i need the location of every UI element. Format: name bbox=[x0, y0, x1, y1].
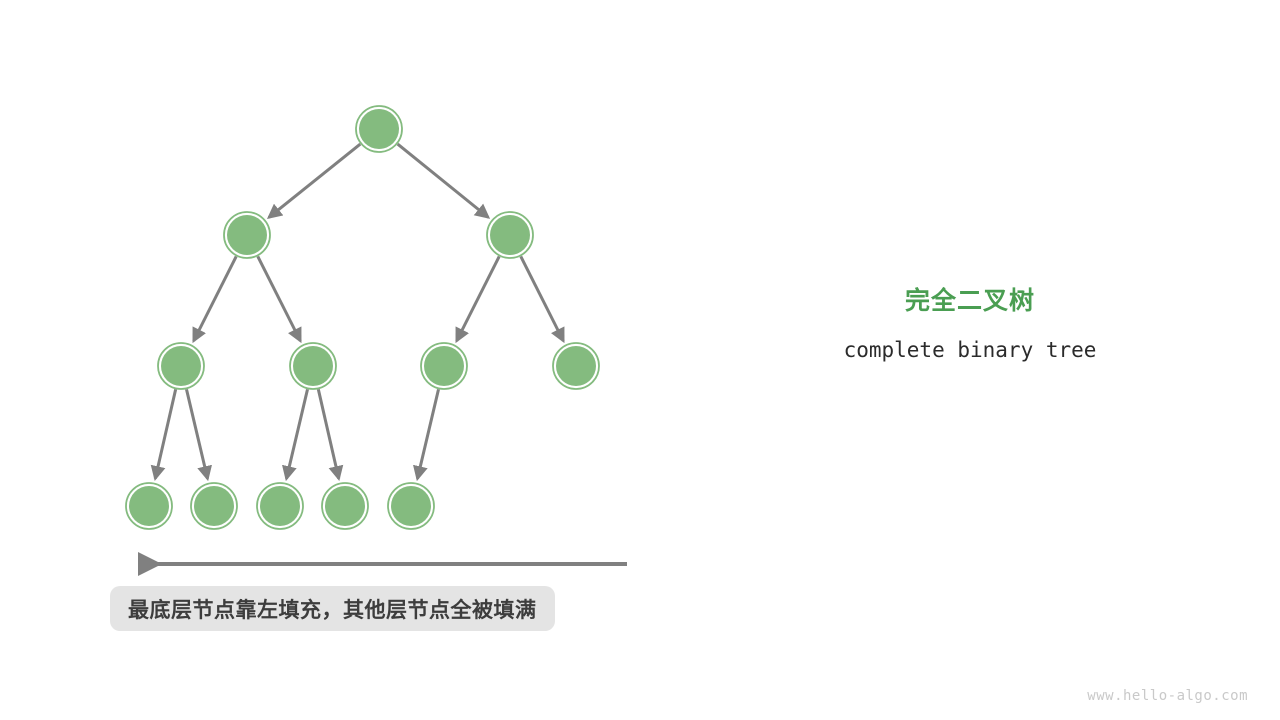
tree-node-disc bbox=[293, 346, 333, 386]
tree-node[interactable] bbox=[290, 343, 336, 389]
tree-edge bbox=[318, 389, 338, 478]
tree-node[interactable] bbox=[553, 343, 599, 389]
tree-edge bbox=[269, 144, 360, 217]
legend-subtitle: complete binary tree bbox=[760, 318, 1180, 362]
tree-node[interactable] bbox=[158, 343, 204, 389]
tree-edges bbox=[155, 144, 563, 479]
tree-edge bbox=[258, 256, 301, 341]
tree-node-disc bbox=[424, 346, 464, 386]
tree-node-disc bbox=[359, 109, 399, 149]
tree-node-disc bbox=[227, 215, 267, 255]
tree-edge bbox=[457, 256, 500, 341]
tree-edge bbox=[187, 389, 208, 478]
tree-node-disc bbox=[556, 346, 596, 386]
tree-node[interactable] bbox=[388, 483, 434, 529]
tree-node[interactable] bbox=[487, 212, 533, 258]
watermark: www.hello-algo.com bbox=[1087, 688, 1248, 704]
tree-node[interactable] bbox=[421, 343, 467, 389]
tree-node[interactable] bbox=[191, 483, 237, 529]
tree-node[interactable] bbox=[224, 212, 270, 258]
tree-node[interactable] bbox=[322, 483, 368, 529]
tree-node-disc bbox=[161, 346, 201, 386]
tree-edge bbox=[398, 144, 489, 217]
tree-edge bbox=[286, 389, 307, 478]
tree-edge bbox=[417, 389, 438, 478]
tree-node-disc bbox=[129, 486, 169, 526]
legend: 完全二叉树 complete binary tree bbox=[760, 285, 1180, 362]
tree-node-disc bbox=[490, 215, 530, 255]
tree-node[interactable] bbox=[126, 483, 172, 529]
tree-node-disc bbox=[391, 486, 431, 526]
tree-node-disc bbox=[260, 486, 300, 526]
caption-pill: 最底层节点靠左填充，其他层节点全被填满 bbox=[110, 586, 555, 631]
tree-edge bbox=[155, 389, 175, 478]
tree-node[interactable] bbox=[356, 106, 402, 152]
tree-nodes bbox=[126, 106, 599, 529]
tree-node-disc bbox=[325, 486, 365, 526]
tree-edge bbox=[521, 256, 564, 341]
legend-title: 完全二叉树 bbox=[760, 285, 1180, 318]
tree-node[interactable] bbox=[257, 483, 303, 529]
caption-text: 最底层节点靠左填充，其他层节点全被填满 bbox=[128, 594, 537, 624]
tree-node-disc bbox=[194, 486, 234, 526]
tree-edge bbox=[194, 256, 237, 341]
